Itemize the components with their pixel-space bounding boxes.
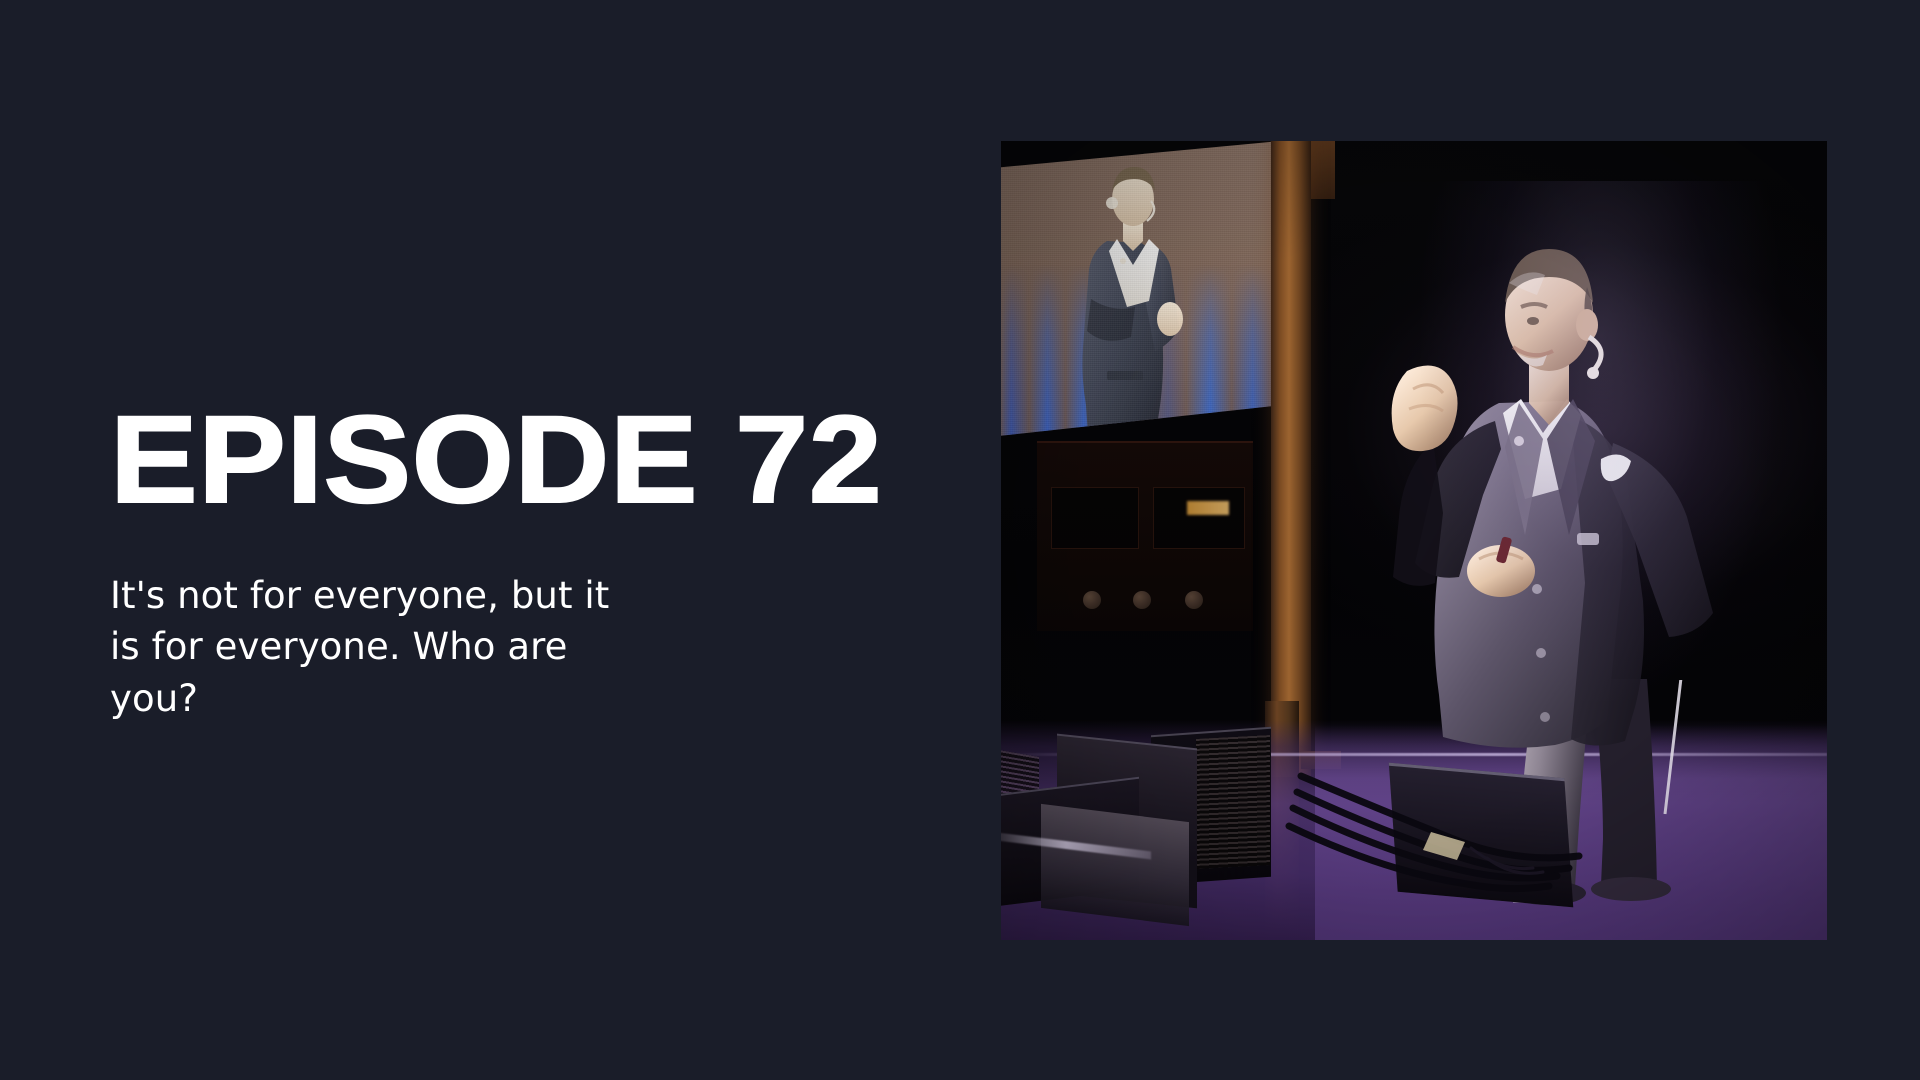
speaker-raised-hand [1392, 366, 1458, 452]
episode-subtitle: It's not for everyone, but it is for eve… [110, 570, 640, 725]
headset-mic [1589, 337, 1601, 371]
text-column: EPISODE 72 It's not for everyone, but it… [110, 400, 910, 725]
page-title: EPISODE 72 [110, 400, 958, 522]
stage-photo [1001, 141, 1827, 940]
episode-slide: EPISODE 72 It's not for everyone, but it… [0, 0, 1920, 1080]
stage-photo-inner [1001, 141, 1827, 940]
mic-stand [1665, 680, 1689, 814]
cable-connector [1423, 832, 1465, 860]
stage-cables [1001, 680, 1827, 940]
